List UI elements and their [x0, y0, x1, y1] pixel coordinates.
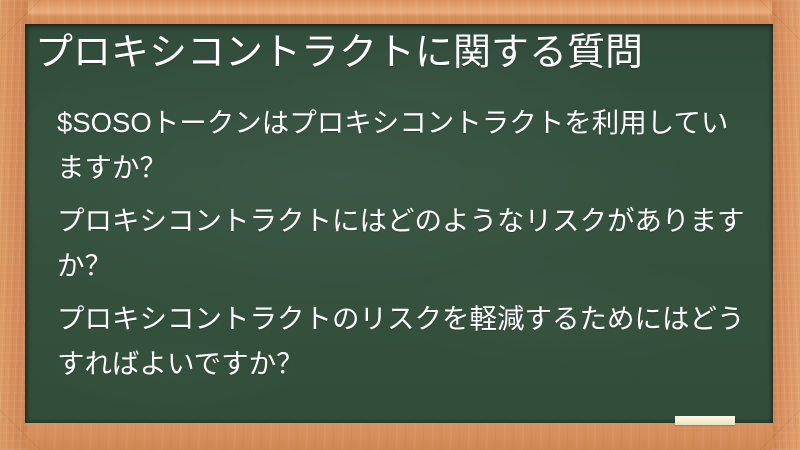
list-item: プロキシコントラクトにはどのようなリスクがありますか？	[57, 198, 747, 288]
frame-rail-right	[772, 0, 800, 450]
chalk-stick-icon	[675, 416, 735, 425]
list-item: プロキシコントラクトのリスクを軽減するためにはどうすればよいですか？	[57, 296, 747, 386]
frame-rail-left	[0, 0, 28, 450]
chalkboard-surface: プロキシコントラクトに関する質問 $SOSOトークンはプロキシコントラクトを利用…	[25, 24, 773, 423]
frame-rail-bottom	[0, 423, 800, 450]
chalkboard-slide: プロキシコントラクトに関する質問 $SOSOトークンはプロキシコントラクトを利用…	[0, 0, 800, 450]
frame-rail-top	[0, 0, 800, 26]
slide-title: プロキシコントラクトに関する質問	[35, 28, 759, 78]
list-item: $SOSOトークンはプロキシコントラクトを利用していますか？	[57, 100, 747, 190]
board-content: プロキシコントラクトに関する質問 $SOSOトークンはプロキシコントラクトを利用…	[25, 24, 773, 423]
question-list: $SOSOトークンはプロキシコントラクトを利用していますか？ プロキシコントラク…	[57, 100, 747, 386]
